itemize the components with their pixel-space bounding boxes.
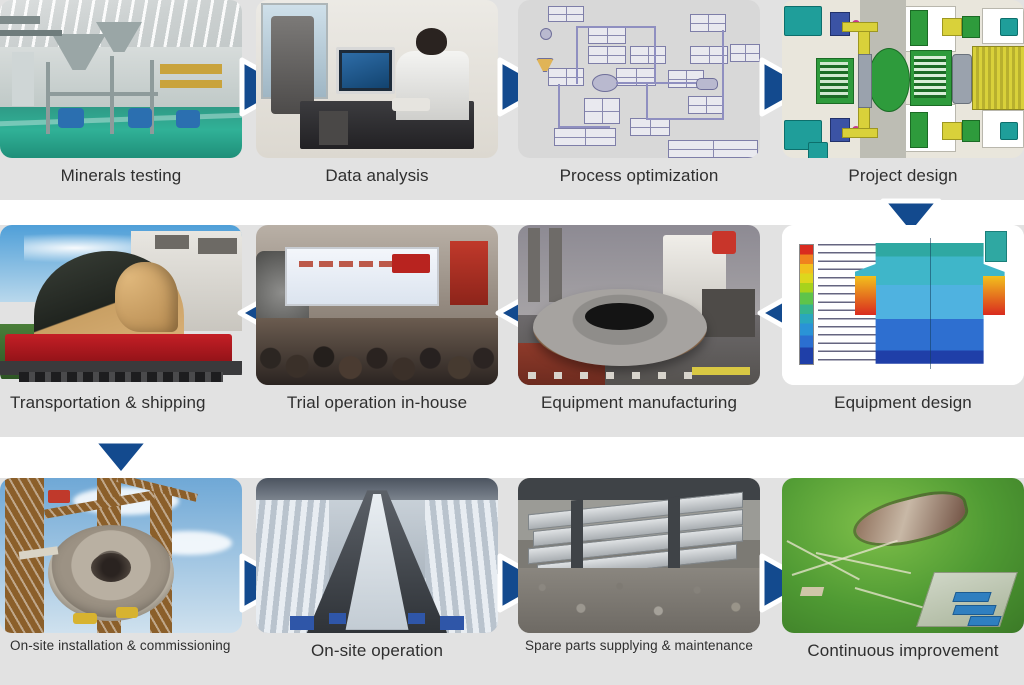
equipment-design-image [782, 225, 1024, 385]
equipment-manufacturing-image [518, 225, 760, 385]
caption-minerals-testing: Minerals testing [0, 166, 242, 186]
workflow-diagram: Minerals testing Data analysis [0, 0, 1024, 685]
step-equipment-manufacturing[interactable]: Equipment manufacturing [518, 225, 760, 437]
step-spare-parts-supplying-maintenance[interactable]: Spare parts supplying & maintenance [518, 478, 760, 685]
step-trial-operation-in-house[interactable]: Trial operation in-house [256, 225, 498, 437]
onsite-operation-image [256, 478, 498, 633]
step-transportation-shipping[interactable]: Transportation & shipping [0, 225, 242, 437]
process-optimization-image [518, 0, 760, 158]
continuous-improvement-image [782, 478, 1024, 633]
caption-process-optimization: Process optimization [518, 166, 760, 186]
caption-data-analysis: Data analysis [256, 166, 498, 186]
data-analysis-image [256, 0, 498, 158]
caption-transportation-shipping: Transportation & shipping [0, 393, 242, 413]
step-continuous-improvement[interactable]: Continuous improvement [782, 478, 1024, 685]
step-onsite-installation-commissioning[interactable]: On-site installation & commissioning [0, 478, 242, 685]
project-design-image [782, 0, 1024, 158]
spare-parts-image [518, 478, 760, 633]
step-data-analysis[interactable]: Data analysis [256, 0, 498, 200]
step-minerals-testing[interactable]: Minerals testing [0, 0, 242, 200]
caption-equipment-manufacturing: Equipment manufacturing [518, 393, 760, 413]
caption-spare-parts-supplying-maintenance: Spare parts supplying & maintenance [518, 638, 760, 653]
step-equipment-design[interactable]: Equipment design [782, 225, 1024, 437]
caption-project-design: Project design [782, 166, 1024, 186]
step-onsite-operation[interactable]: On-site operation [256, 478, 498, 685]
step-process-optimization[interactable]: Process optimization [518, 0, 760, 200]
caption-trial-operation-in-house: Trial operation in-house [256, 393, 498, 413]
transportation-shipping-image [0, 225, 242, 385]
trial-operation-image [256, 225, 498, 385]
minerals-testing-image [0, 0, 242, 158]
caption-onsite-operation: On-site operation [256, 641, 498, 661]
step-project-design[interactable]: Project design [782, 0, 1024, 200]
caption-continuous-improvement: Continuous improvement [782, 641, 1024, 661]
onsite-installation-image [0, 478, 242, 633]
caption-equipment-design: Equipment design [782, 393, 1024, 413]
caption-onsite-installation-commissioning: On-site installation & commissioning [0, 638, 242, 653]
